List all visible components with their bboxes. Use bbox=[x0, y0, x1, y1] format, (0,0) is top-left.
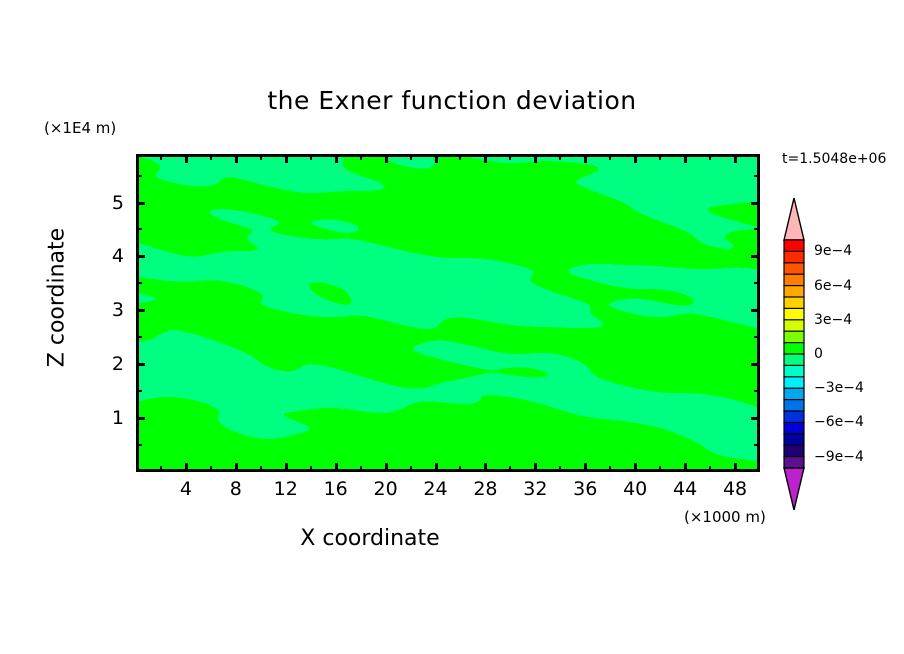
colorbar-band bbox=[784, 434, 804, 446]
colorbar-band bbox=[784, 445, 804, 457]
y-tick-label: 5 bbox=[104, 192, 124, 214]
colorbar-band bbox=[784, 400, 804, 412]
colorbar-band bbox=[784, 251, 804, 263]
x-tick-label: 32 bbox=[523, 478, 547, 500]
colorbar-under-arrow bbox=[784, 468, 804, 510]
x-tick-label: 36 bbox=[573, 478, 597, 500]
contour-plot-area bbox=[136, 154, 760, 472]
colorbar-band bbox=[784, 388, 804, 400]
x-tick-label: 8 bbox=[230, 478, 242, 500]
colorbar-tick-label: −6e−4 bbox=[814, 414, 864, 430]
colorbar-tick-label: 6e−4 bbox=[814, 278, 852, 294]
x-tick-label: 48 bbox=[723, 478, 747, 500]
x-tick-label: 28 bbox=[473, 478, 497, 500]
colorbar-band bbox=[784, 263, 804, 275]
colorbar-band bbox=[784, 411, 804, 423]
colorbar-band bbox=[784, 274, 804, 286]
y-axis-title: Z coordinate bbox=[45, 198, 70, 398]
colorbar-band bbox=[784, 308, 804, 320]
colorbar-over-arrow bbox=[784, 198, 804, 240]
y-tick-label: 3 bbox=[104, 299, 124, 321]
x-tick-label: 16 bbox=[324, 478, 348, 500]
colorbar bbox=[780, 196, 808, 512]
page-title: the Exner function deviation bbox=[0, 86, 904, 115]
colorbar-tick-label: −9e−4 bbox=[814, 449, 864, 465]
colorbar-band bbox=[784, 457, 804, 469]
colorbar-band bbox=[784, 343, 804, 355]
time-annotation: t=1.5048e+06 bbox=[782, 151, 886, 167]
contour-field bbox=[139, 157, 757, 469]
colorbar-band bbox=[784, 377, 804, 389]
y-axis-unit-label: (×1E4 m) bbox=[44, 119, 116, 137]
colorbar-tick-label: −3e−4 bbox=[814, 380, 864, 396]
x-axis-unit-label: (×1000 m) bbox=[684, 508, 766, 526]
colorbar-band bbox=[784, 297, 804, 309]
colorbar-band bbox=[784, 422, 804, 434]
x-tick-label: 44 bbox=[673, 478, 697, 500]
y-tick-label: 1 bbox=[104, 407, 124, 429]
x-tick-label: 4 bbox=[180, 478, 192, 500]
colorbar-band bbox=[784, 320, 804, 332]
x-tick-label: 40 bbox=[623, 478, 647, 500]
x-tick-label: 20 bbox=[374, 478, 398, 500]
colorbar-tick-label: 3e−4 bbox=[814, 312, 852, 328]
colorbar-swatches bbox=[780, 196, 808, 512]
x-axis-title: X coordinate bbox=[0, 526, 740, 551]
x-tick-label: 12 bbox=[274, 478, 298, 500]
colorbar-band bbox=[784, 331, 804, 343]
colorbar-band bbox=[784, 240, 804, 252]
colorbar-tick-label: 0 bbox=[814, 346, 823, 362]
y-tick-label: 4 bbox=[104, 245, 124, 267]
x-tick-label: 24 bbox=[423, 478, 447, 500]
y-tick-label: 2 bbox=[104, 353, 124, 375]
colorbar-band bbox=[784, 286, 804, 298]
colorbar-tick-label: 9e−4 bbox=[814, 243, 852, 259]
colorbar-band bbox=[784, 354, 804, 366]
colorbar-band bbox=[784, 365, 804, 377]
